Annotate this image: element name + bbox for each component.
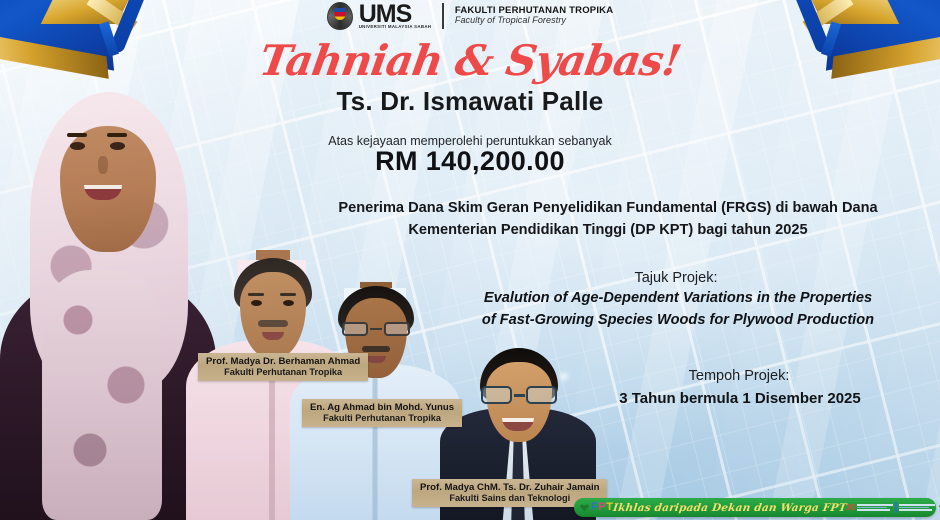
name-tag-name: Prof. Madya Dr. Berhaman Ahmad bbox=[206, 356, 360, 367]
name-tag-person-2: En. Ag Ahmad bin Mohd. Yunus Fakulti Per… bbox=[302, 399, 462, 427]
portrait-eyebrow bbox=[248, 293, 264, 296]
name-tag-name: En. Ag Ahmad bin Mohd. Yunus bbox=[310, 402, 454, 413]
portrait-moustache bbox=[362, 346, 390, 352]
header-divider bbox=[442, 3, 444, 29]
project-title: Evalution of Age-Dependent Variations in… bbox=[430, 288, 926, 332]
name-tag-name: Prof. Madya ChM. Ts. Dr. Zuhair Jamain bbox=[420, 482, 599, 493]
project-title-line-2: of Fast-Growing Species Woods for Plywoo… bbox=[430, 310, 926, 332]
ums-wordmark-text: UMS bbox=[359, 3, 432, 26]
name-tag-affiliation: Fakulti Perhutanan Tropika bbox=[206, 367, 360, 377]
portrait-moustache bbox=[258, 320, 288, 327]
congrats-script-heading: Tahniah & Syabas! bbox=[0, 36, 940, 85]
grant-description: Penerima Dana Skim Geran Penyelidikan Fu… bbox=[290, 198, 926, 241]
gov-logo-tick bbox=[895, 502, 897, 513]
gov-mark-number: 30 bbox=[846, 504, 855, 512]
portrait-eye bbox=[251, 300, 262, 306]
project-title-line-1: Evalution of Age-Dependent Variations in… bbox=[430, 288, 926, 310]
ums-crest-icon bbox=[327, 2, 353, 30]
gov-logo-bars bbox=[857, 504, 893, 511]
name-tag-person-1: Prof. Madya Dr. Berhaman Ahmad Fakulti P… bbox=[198, 353, 368, 381]
eyeglasses-icon bbox=[481, 386, 557, 404]
portrait-shawl bbox=[42, 270, 162, 520]
ums-wordmark: UMS UNIVERSITI MALAYSIA SABAH bbox=[359, 3, 432, 30]
footer-message: Ikhlas daripada Dekan dan Warga FPT bbox=[612, 502, 847, 514]
project-duration-value: 3 Tahun bermula 1 Disember 2025 bbox=[560, 390, 920, 407]
name-tag-affiliation: Fakulti Perhutanan Tropika bbox=[310, 413, 454, 423]
grant-description-line-2: Kementerian Pendidikan Tinggi (DP KPT) b… bbox=[290, 220, 926, 242]
faculty-name-en: Faculty of Tropical Forestry bbox=[455, 16, 613, 26]
name-tag-affiliation: Fakulti Sains dan Teknologi bbox=[420, 493, 599, 503]
grant-description-line-1: Penerima Dana Skim Geran Penyelidikan Fu… bbox=[290, 198, 926, 220]
leaf-icon bbox=[580, 504, 589, 512]
fpt-letter-p: P bbox=[598, 502, 605, 513]
fpt-letter-f: F bbox=[591, 502, 597, 513]
government-logo-icon: 30 bbox=[846, 502, 935, 513]
footer-banner: F P T Ikhlas daripada Dekan dan Warga FP… bbox=[574, 498, 936, 517]
project-title-label: Tajuk Projek: bbox=[430, 270, 922, 286]
congratulation-poster: UMS UNIVERSITI MALAYSIA SABAH FAKULTI PE… bbox=[0, 0, 940, 520]
project-duration-label: Tempoh Projek: bbox=[560, 368, 918, 384]
grant-amount: RM 140,200.00 bbox=[0, 146, 940, 177]
recipient-name: Ts. Dr. Ismawati Palle bbox=[0, 86, 940, 117]
faculty-name: FAKULTI PERHUTANAN TROPIKA Faculty of Tr… bbox=[455, 6, 613, 26]
eyeglasses-icon bbox=[342, 322, 410, 336]
university-header: UMS UNIVERSITI MALAYSIA SABAH FAKULTI PE… bbox=[0, 0, 940, 32]
fpt-logo-icon: F P T bbox=[580, 502, 613, 513]
gov-logo-bars bbox=[899, 504, 935, 511]
